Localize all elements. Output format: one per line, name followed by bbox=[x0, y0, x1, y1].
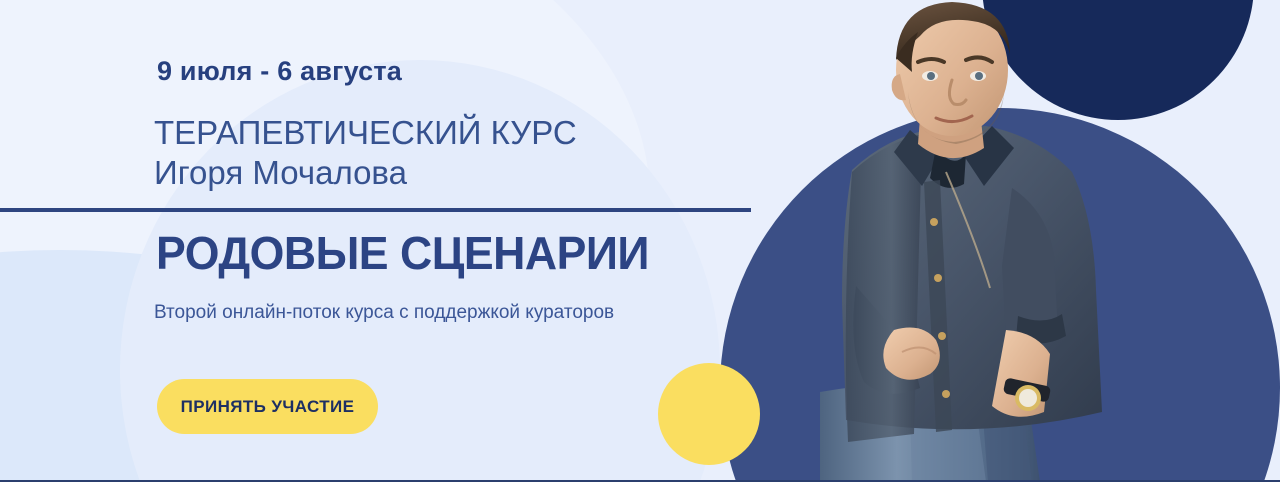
page-title: РОДОВЫЕ СЦЕНАРИИ bbox=[156, 226, 649, 280]
promo-banner: 9 июля - 6 августа ТЕРАПЕВТИЧЕСКИЙ КУРС … bbox=[0, 0, 1280, 482]
banner-content: 9 июля - 6 августа ТЕРАПЕВТИЧЕСКИЙ КУРС … bbox=[0, 0, 760, 482]
course-heading: ТЕРАПЕВТИЧЕСКИЙ КУРС Игоря Мочалова bbox=[154, 113, 577, 193]
course-type-label: ТЕРАПЕВТИЧЕСКИЙ КУРС bbox=[154, 113, 577, 153]
join-course-button[interactable]: ПРИНЯТЬ УЧАСТИЕ bbox=[157, 379, 378, 434]
course-dates: 9 июля - 6 августа bbox=[157, 56, 402, 87]
presenter-photo bbox=[760, 0, 1180, 482]
banner-subtitle: Второй онлайн-поток курса с поддержкой к… bbox=[154, 298, 624, 327]
course-author-name: Игоря Мочалова bbox=[154, 153, 577, 193]
